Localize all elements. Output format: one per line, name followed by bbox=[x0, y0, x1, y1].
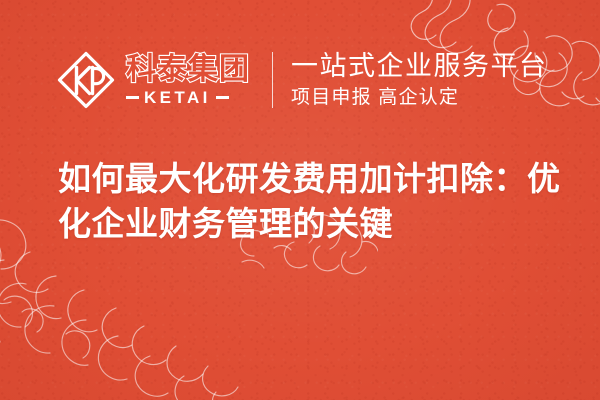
brand-wordmark: 科泰集团 KETAI bbox=[126, 54, 250, 107]
ketai-diamond-kp-logo-icon bbox=[56, 50, 116, 110]
brand-name-en-row: KETAI bbox=[126, 89, 250, 107]
dash-icon-right bbox=[216, 96, 229, 99]
banner-title-line-2: 化企业财务管理的关键 bbox=[58, 201, 558, 246]
banner-title-line-1: 如何最大化研发费用加计扣除：优 bbox=[58, 156, 558, 201]
brand-name-cn: 科泰集团 bbox=[126, 54, 250, 86]
brand-name-en: KETAI bbox=[144, 89, 211, 107]
promotional-banner: 科泰集团 KETAI 一站式企业服务平台 项目申报 高企认定 如何最大化研发费用… bbox=[0, 0, 600, 400]
vertical-divider-icon bbox=[272, 52, 273, 108]
tagline-sub: 项目申报 高企认定 bbox=[291, 86, 560, 109]
banner-title: 如何最大化研发费用加计扣除：优 化企业财务管理的关键 bbox=[58, 156, 558, 246]
tagline-block: 一站式企业服务平台 项目申报 高企认定 bbox=[291, 51, 560, 109]
tagline-main: 一站式企业服务平台 bbox=[291, 51, 560, 82]
banner-header: 科泰集团 KETAI 一站式企业服务平台 项目申报 高企认定 bbox=[56, 44, 560, 116]
dash-icon-left bbox=[126, 96, 139, 99]
brand-logo[interactable]: 科泰集团 KETAI bbox=[56, 50, 250, 110]
